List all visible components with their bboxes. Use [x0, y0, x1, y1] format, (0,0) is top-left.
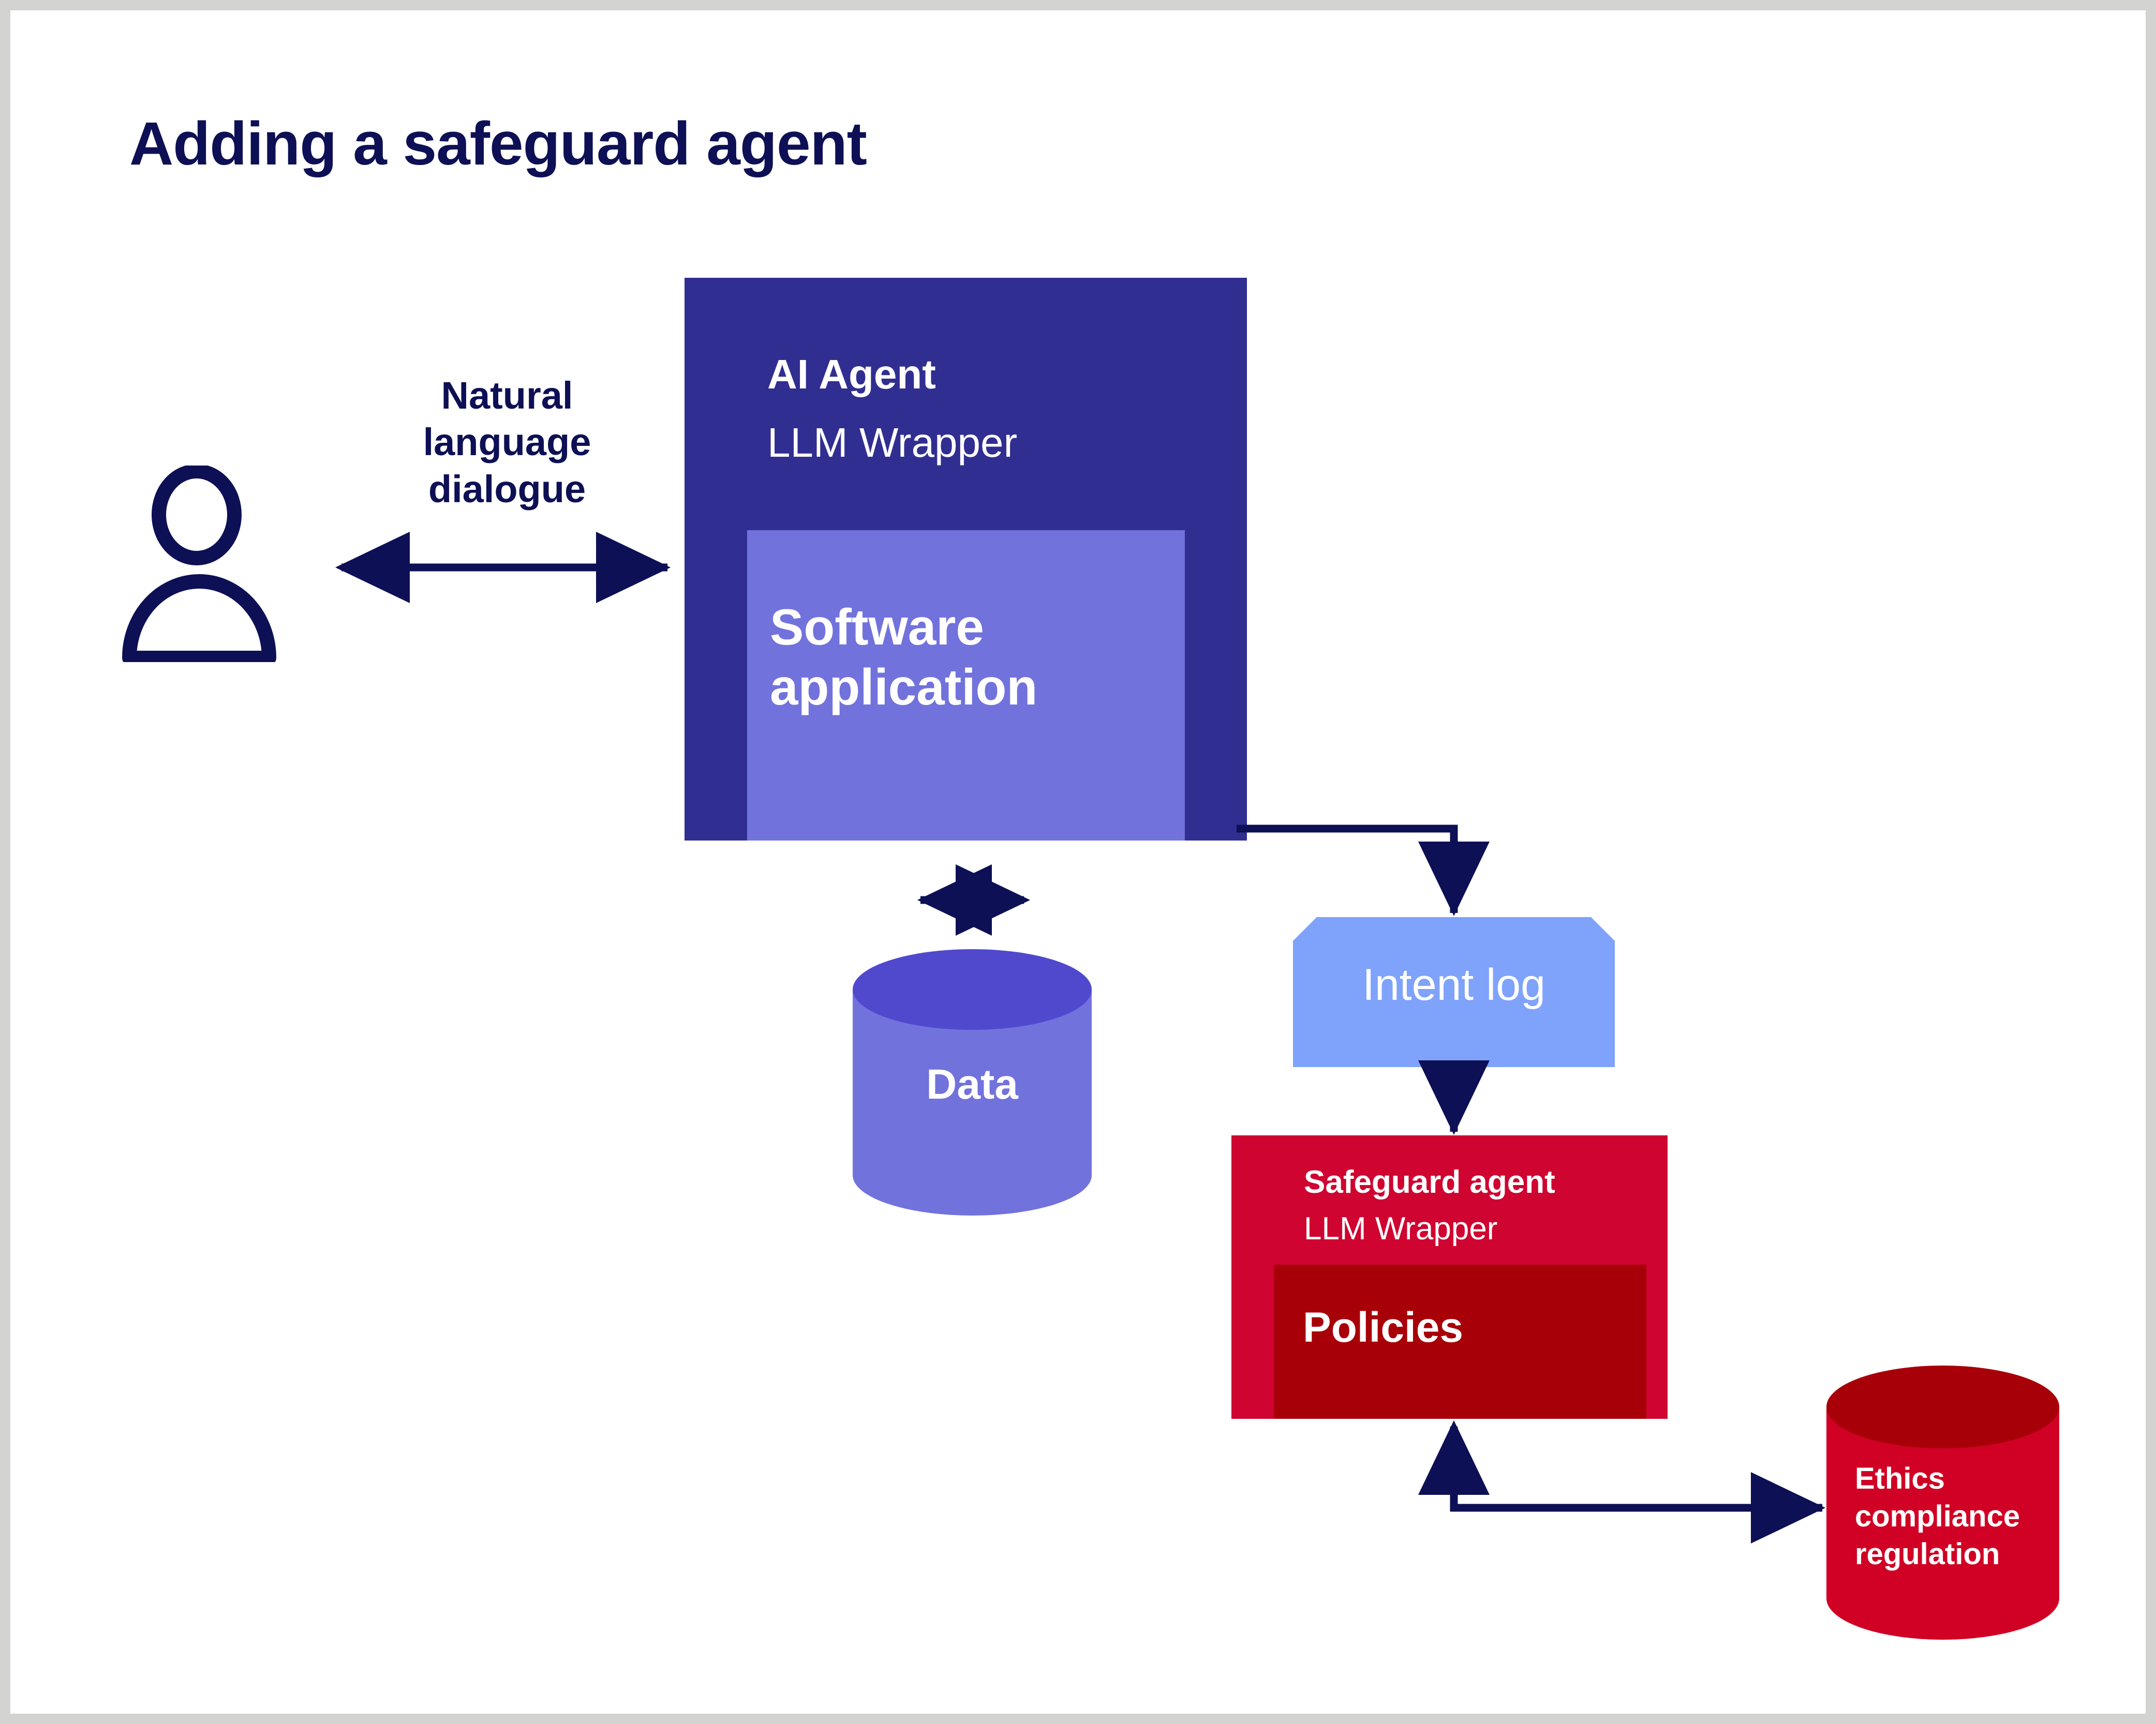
dialogue-label-line1: Natural [393, 372, 621, 419]
connector-ai-agent-to-intent-log [1237, 829, 1454, 913]
connector-safeguard-to-ethics [1454, 1427, 1822, 1508]
ethics-store-label: Ethics compliance regulation [1855, 1460, 2057, 1573]
diagram-page: Adding a safeguard agent Natural languag… [10, 10, 2146, 1714]
policies-label: Policies [1303, 1303, 1463, 1352]
diagram-canvas: Adding a safeguard agent Natural languag… [0, 0, 2156, 1724]
software-label-line2: application [770, 657, 1184, 717]
software-label-line1: Software [770, 597, 1184, 657]
ai-agent-subtitle: LLM Wrapper [767, 419, 1017, 467]
ai-agent-title: AI Agent [767, 351, 936, 398]
safeguard-agent-subtitle: LLM Wrapper [1304, 1210, 1497, 1247]
dialogue-label-line3: dialogue [393, 466, 621, 513]
dialogue-label: Natural language dialogue [393, 372, 621, 513]
intent-log-label: Intent log [1293, 960, 1615, 1011]
page-title: Adding a safeguard agent [129, 109, 867, 179]
safeguard-agent-title: Safeguard agent [1304, 1164, 1555, 1201]
person-icon [114, 466, 300, 662]
ethics-label-line1: Ethics [1855, 1460, 2057, 1497]
software-application-label: Software application [770, 597, 1184, 717]
ethics-label-line2: compliance [1855, 1497, 2057, 1535]
data-store-label: Data [853, 1060, 1092, 1109]
ethics-label-line3: regulation [1855, 1535, 2057, 1573]
dialogue-label-line2: language [393, 419, 621, 466]
